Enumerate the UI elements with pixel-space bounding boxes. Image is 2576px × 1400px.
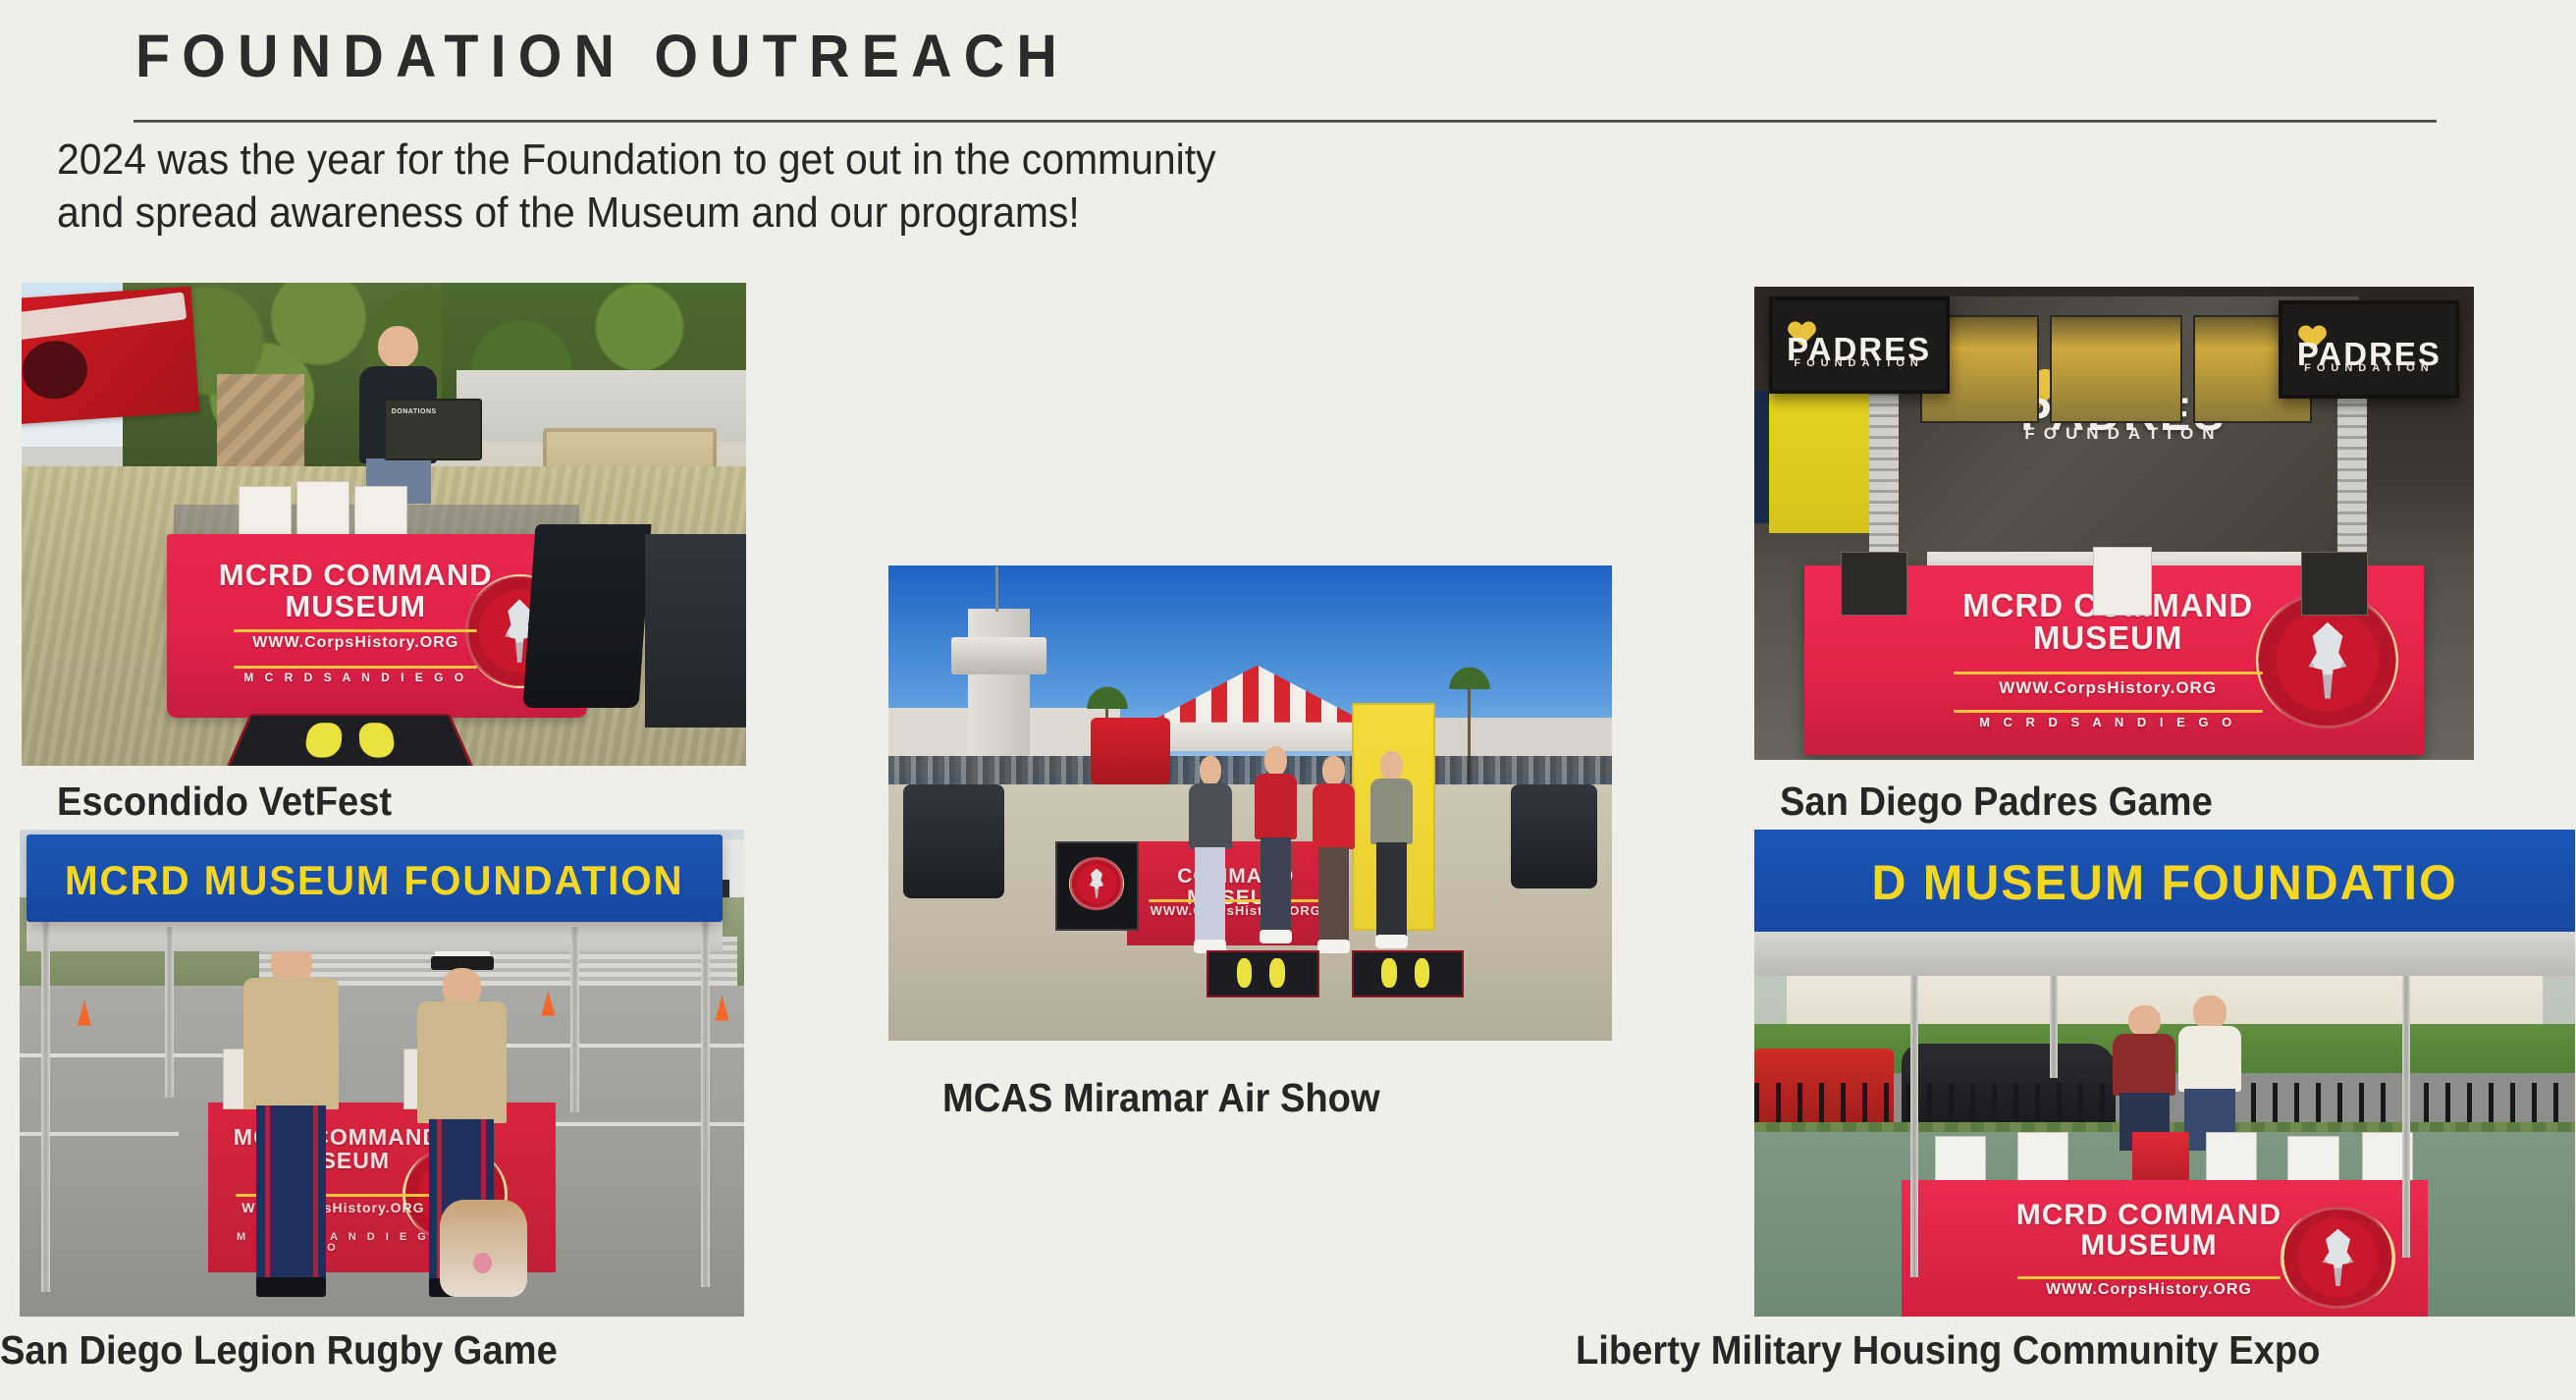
vetfest-banner — [22, 286, 199, 424]
photo-escondido-scene: DONATIONS MCRD COMMAND MUSEUM WWW.CorpsH… — [22, 283, 746, 766]
screen-subtitle: FOUNDATION — [1773, 357, 1946, 369]
tablecloth-subtitle: M C R D S A N D I E G O — [226, 672, 486, 683]
red-bucket — [2132, 1132, 2190, 1186]
volunteer-figure-right — [2173, 996, 2246, 1152]
volunteer-figure-left — [2107, 1005, 2180, 1152]
tablecloth-url: WWW.CorpsHistory.ORG — [2012, 1282, 2285, 1298]
caption-mcas-miramar-air-show: MCAS Miramar Air Show — [942, 1075, 1380, 1121]
canopy-text: D MUSEUM FOUNDATIO — [1754, 854, 2575, 911]
photo-liberty-scene: MCRD COMMAND MUSEUM WWW.CorpsHistory.ORG… — [1754, 830, 2575, 1317]
photo-san-diego-padres-game[interactable]: PADRES FOUNDATION PADRES FOUNDATION PADR… — [1754, 287, 2474, 760]
museum-seal-icon — [2281, 1207, 2396, 1309]
padres-screen-left: PADRES FOUNDATION — [1769, 296, 1950, 395]
photo-rugby-scene: MCRD COMMAND MUSEUM WWW.CorpsHistory.ORG… — [20, 830, 744, 1317]
bulldog-mascot — [440, 1200, 527, 1297]
title-underline-rule — [134, 120, 2437, 123]
photo-escondido-vetfest[interactable]: DONATIONS MCRD COMMAND MUSEUM WWW.CorpsH… — [22, 283, 746, 766]
tablecloth-url: WWW.CorpsHistory.ORG — [226, 635, 486, 651]
marine-figure-left — [237, 897, 346, 1297]
tablecloth-url: WWW.CorpsHistory.ORG — [1947, 679, 2269, 696]
yellow-footprints-mat-left — [1207, 950, 1319, 997]
canopy-text: MCRD MUSEUM FOUNDATION — [41, 857, 709, 904]
yellow-footprints-mat-right — [1352, 950, 1465, 997]
caption-escondido-vetfest: Escondido VetFest — [57, 779, 392, 825]
tablecloth-title: MCRD COMMAND MUSEUM — [2007, 1201, 2290, 1261]
subtitle-line-2: and spread awareness of the Museum and o… — [57, 187, 1700, 240]
mcrd-tablecloth: MCRD COMMAND MUSEUM WWW.CorpsHistory.ORG — [1902, 1180, 2427, 1317]
page-subtitle: 2024 was the year for the Foundation to … — [57, 134, 1700, 239]
museum-seal-icon — [1069, 857, 1123, 910]
volunteer-figure-2 — [1251, 746, 1302, 945]
foundation-canopy: MCRD MUSEUM FOUNDATION — [27, 835, 722, 922]
photo-miramar-scene: COMMAND MUSEUM WWW.CorpsHistory.ORG — [888, 565, 1612, 1041]
subtitle-line-1: 2024 was the year for the Foundation to … — [57, 134, 1700, 187]
museum-seal-easel — [1055, 841, 1139, 931]
foundation-canopy: D MUSEUM FOUNDATIO — [1754, 830, 2575, 932]
caption-san-diego-padres-game: San Diego Padres Game — [1780, 779, 2213, 825]
yellow-footprints-mat — [225, 714, 477, 766]
photo-padres-scene: PADRES FOUNDATION PADRES FOUNDATION PADR… — [1754, 287, 2474, 760]
tablecloth-title: MCRD COMMAND MUSEUM — [217, 560, 495, 621]
screen-subtitle: FOUNDATION — [2282, 362, 2455, 374]
photo-mcas-miramar-air-show[interactable]: COMMAND MUSEUM WWW.CorpsHistory.ORG — [888, 565, 1612, 1041]
volunteer-figure-4 — [1366, 751, 1417, 950]
caption-liberty-military-housing-community-expo: Liberty Military Housing Community Expo — [1576, 1327, 2320, 1373]
page-title: FOUNDATION OUTREACH — [135, 22, 1069, 90]
volunteer-figure-3 — [1308, 756, 1359, 955]
tablecloth-subtitle: M C R D S A N D I E G O — [1947, 716, 2269, 728]
backdrop-subtitle: FOUNDATION — [1997, 424, 2251, 444]
photo-liberty-military-housing-community-expo[interactable]: MCRD COMMAND MUSEUM WWW.CorpsHistory.ORG… — [1754, 830, 2575, 1317]
donations-box: DONATIONS — [384, 399, 482, 460]
padres-screen-right: PADRES FOUNDATION — [2279, 300, 2459, 399]
photo-san-diego-legion-rugby-game[interactable]: MCRD COMMAND MUSEUM WWW.CorpsHistory.ORG… — [20, 830, 744, 1317]
volunteer-figure-1 — [1185, 756, 1236, 955]
caption-san-diego-legion-rugby-game: San Diego Legion Rugby Game — [0, 1327, 558, 1373]
tablecloth-url: WWW.CorpsHistory.ORG — [1140, 904, 1331, 917]
